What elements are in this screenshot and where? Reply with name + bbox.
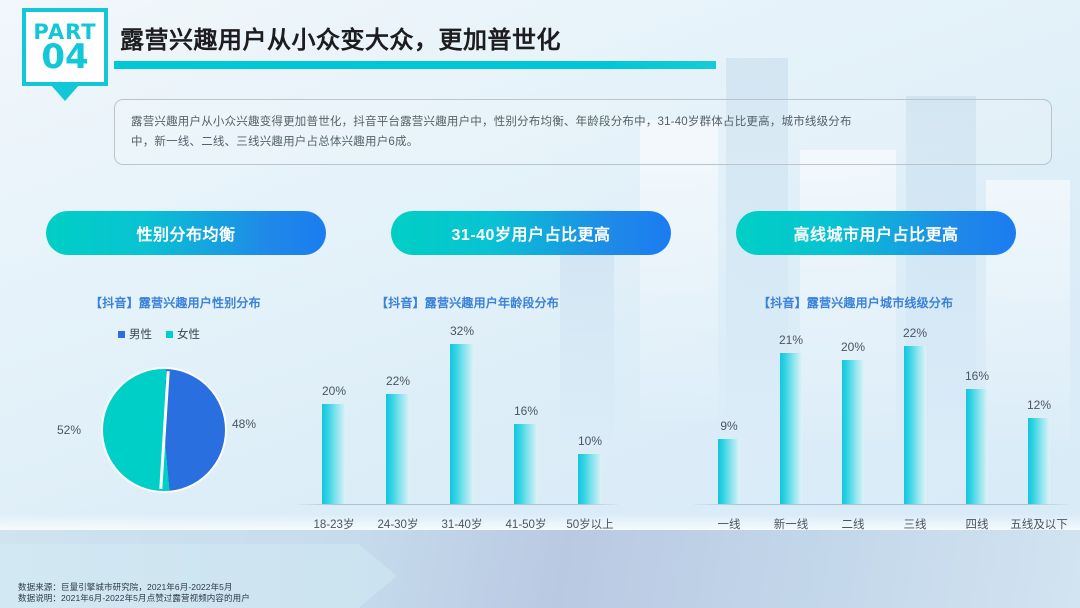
legend-label-male: 男性 xyxy=(129,326,152,342)
category-label: 24-30岁 xyxy=(366,516,430,532)
legend-swatch-male-icon xyxy=(118,331,125,338)
bar xyxy=(780,353,802,504)
bar xyxy=(966,389,988,504)
bar-value-label: 9% xyxy=(698,419,760,433)
footer-source: 数据来源：巨量引擎城市研究院，2021年6月-2022年5月 xyxy=(18,582,250,593)
bar-value-label: 32% xyxy=(430,324,494,338)
pie-chart-title: 【抖音】露营兴趣用户性别分布 xyxy=(90,294,261,311)
bar xyxy=(904,346,926,504)
description-box: 露营兴趣用户从小众兴趣变得更加普世化，抖音平台露营兴趣用户中，性别分布均衡、年龄… xyxy=(114,99,1052,165)
bar-value-label: 20% xyxy=(302,384,366,398)
bar-value-label: 16% xyxy=(494,404,558,418)
bar-value-label: 10% xyxy=(558,434,622,448)
footer: 数据来源：巨量引擎城市研究院，2021年6月-2022年5月 数据说明：2021… xyxy=(18,582,250,604)
category-label: 31-40岁 xyxy=(430,516,494,532)
category-label: 18-23岁 xyxy=(302,516,366,532)
category-label: 一线 xyxy=(698,516,760,532)
pie-value-male: 48% xyxy=(232,417,256,431)
category-label: 41-50岁 xyxy=(494,516,558,532)
bar-value-label: 21% xyxy=(760,333,822,347)
bar xyxy=(386,394,410,504)
bar xyxy=(578,454,602,504)
bar-value-label: 22% xyxy=(366,374,430,388)
pie-chart xyxy=(103,369,225,491)
pie-legend: 男性 女性 xyxy=(118,326,200,342)
bar xyxy=(842,360,864,504)
bar xyxy=(514,424,538,504)
city-chart-axis xyxy=(694,504,1070,505)
bar xyxy=(450,344,474,504)
part-number: 04 xyxy=(41,42,88,73)
bar-value-label: 20% xyxy=(822,340,884,354)
category-label: 三线 xyxy=(884,516,946,532)
section-pill-city[interactable]: 高线城市用户占比更高 xyxy=(736,211,1016,255)
section-pill-gender[interactable]: 性别分布均衡 xyxy=(46,211,326,255)
footer-note: 数据说明：2021年6月-2022年5月点赞过露营视频内容的用户 xyxy=(18,593,250,604)
legend-label-female: 女性 xyxy=(177,326,200,342)
page-title: 露营兴趣用户从小众变大众，更加普世化 xyxy=(120,20,561,55)
description-line-1: 露营兴趣用户从小众兴趣变得更加普世化，抖音平台露营兴趣用户中，性别分布均衡、年龄… xyxy=(131,112,1035,132)
slide-canvas: PART 04 露营兴趣用户从小众变大众，更加普世化 露营兴趣用户从小众兴趣变得… xyxy=(0,0,1080,608)
category-label: 五线及以下 xyxy=(1008,516,1070,532)
part-badge-pointer-icon xyxy=(50,84,80,101)
bar-value-label: 16% xyxy=(946,369,1008,383)
city-chart-title: 【抖音】露营兴趣用户城市线级分布 xyxy=(758,294,953,311)
legend-item-male: 男性 xyxy=(118,326,152,342)
age-chart-axis xyxy=(298,504,618,505)
bar-value-label: 22% xyxy=(884,326,946,340)
category-label: 二线 xyxy=(822,516,884,532)
legend-swatch-female-icon xyxy=(166,331,173,338)
category-label: 新一线 xyxy=(760,516,822,532)
pie-value-female: 52% xyxy=(57,423,81,437)
bar xyxy=(1028,418,1050,504)
part-badge: PART 04 xyxy=(22,8,108,86)
section-pill-age[interactable]: 31-40岁用户占比更高 xyxy=(391,211,671,255)
bar-value-label: 12% xyxy=(1008,398,1070,412)
title-underline-rule xyxy=(114,61,716,69)
age-chart-title: 【抖音】露营兴趣用户年龄段分布 xyxy=(376,294,559,311)
legend-item-female: 女性 xyxy=(166,326,200,342)
bar xyxy=(322,404,346,504)
category-label: 四线 xyxy=(946,516,1008,532)
category-label: 50岁以上 xyxy=(558,516,622,532)
bar xyxy=(718,439,740,504)
description-line-2: 中，新一线、二线、三线兴趣用户占总体兴趣用户6成。 xyxy=(131,132,1035,152)
